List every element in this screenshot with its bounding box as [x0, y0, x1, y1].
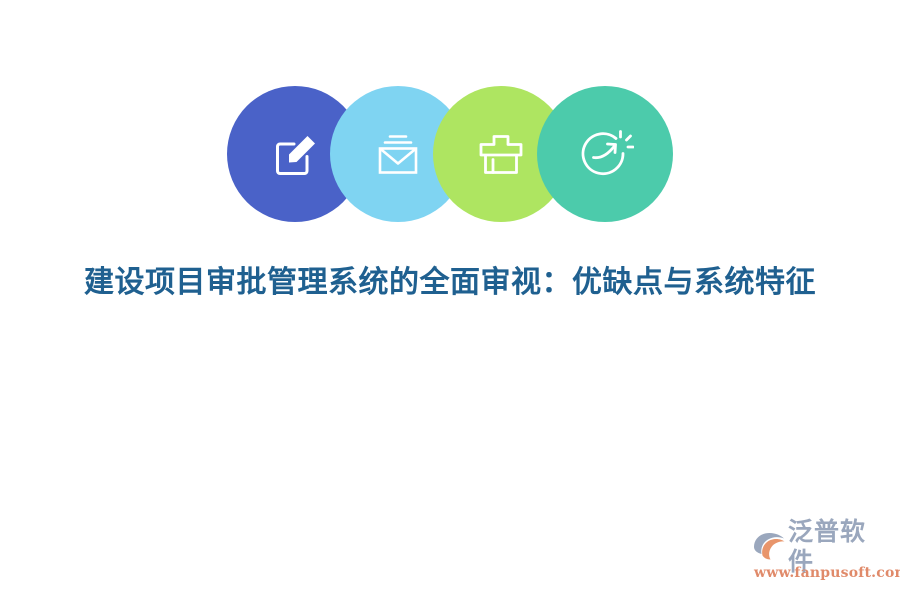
- brand-url: www.fanpusoft.com: [752, 564, 888, 582]
- page-title: 建设项目审批管理系统的全面审视：优缺点与系统特征: [0, 262, 900, 304]
- edit-pencil-square-icon: [267, 126, 323, 182]
- envelope-mail-icon: [370, 126, 426, 182]
- brand-logo-row: 泛普软件: [752, 530, 888, 564]
- fanpu-swoosh-logo-icon: [752, 532, 786, 562]
- circle-cluster: [227, 86, 673, 222]
- page-root: 建设项目审批管理系统的全面审视：优缺点与系统特征 泛普软件 www.fanpus…: [0, 0, 900, 600]
- brand-watermark: 泛普软件 www.fanpusoft.com: [752, 530, 888, 588]
- hero-circle-growth: [537, 86, 673, 222]
- page-title-container: 建设项目审批管理系统的全面审视：优缺点与系统特征: [0, 262, 900, 304]
- growth-arrow-circle-icon: [576, 125, 634, 183]
- storefront-shop-icon: [473, 126, 529, 182]
- hero-graphic: [0, 86, 900, 226]
